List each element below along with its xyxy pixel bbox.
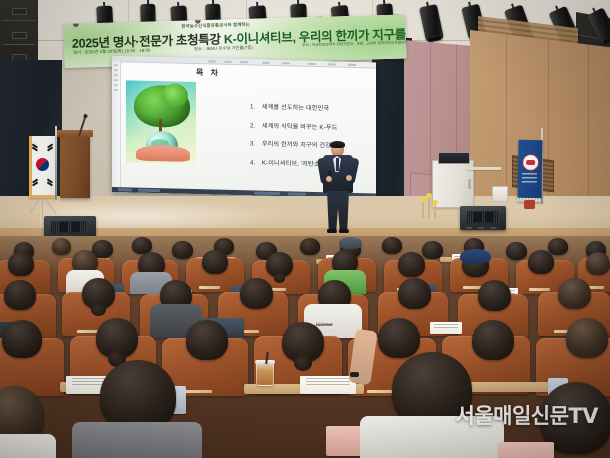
lecture-hall-photo: 한국농수산식품유통공사와 함께하는 2025년 명사·전문가 초청특강 K-이니… (0, 0, 610, 458)
av-box (492, 186, 508, 202)
flagpole-left (55, 126, 57, 200)
agenda-number: 4. (250, 159, 260, 166)
agenda-label: 세계의 식탁을 바꾸는 K-푸드 (262, 122, 338, 131)
agenda-label: 세계를 선도하는 대한민국 (262, 104, 329, 113)
paper-handout (300, 376, 356, 394)
flag-base-right (524, 200, 535, 209)
agenda-number: 3. (250, 140, 260, 147)
watermark: 서울매일신문TV (456, 400, 599, 430)
slide-thumbnail-rail (112, 61, 121, 192)
banner-datetime: 일시 : 2025년 5월 20일(화) 16:00 - 18:00 (73, 48, 150, 56)
agenda-number: 1. (250, 103, 260, 110)
wooden-podium (60, 134, 90, 198)
banner-place: 장소 : JBNU 진수당 가인홀(7층) (194, 45, 253, 53)
stage-floor-monitor (460, 206, 506, 230)
list-item: 3. 우리의 한끼와 지구의 건강 (250, 138, 376, 151)
korean-flag-icon (29, 136, 55, 198)
control-monitor-icon (438, 152, 470, 164)
flower-arrangement (418, 192, 440, 218)
speaker-on-stage (320, 142, 356, 234)
agenda-number: 2. (250, 122, 260, 129)
institution-flag-icon (517, 140, 542, 202)
list-item: 1. 세계를 선도하는 대한민국 (250, 101, 376, 114)
flag-stand-left (22, 196, 64, 218)
person-with-cap (462, 252, 489, 277)
tree-on-globe-icon (126, 80, 196, 164)
stage-light (140, 0, 156, 22)
list-item: 2. 세계의 식탁을 바꾸는 K-푸드 (250, 120, 376, 133)
iced-coffee-cup (256, 362, 274, 386)
tshirt-text: isisneve (316, 322, 333, 327)
slide-title: 목 차 (196, 67, 220, 79)
paper-bag (498, 442, 554, 458)
